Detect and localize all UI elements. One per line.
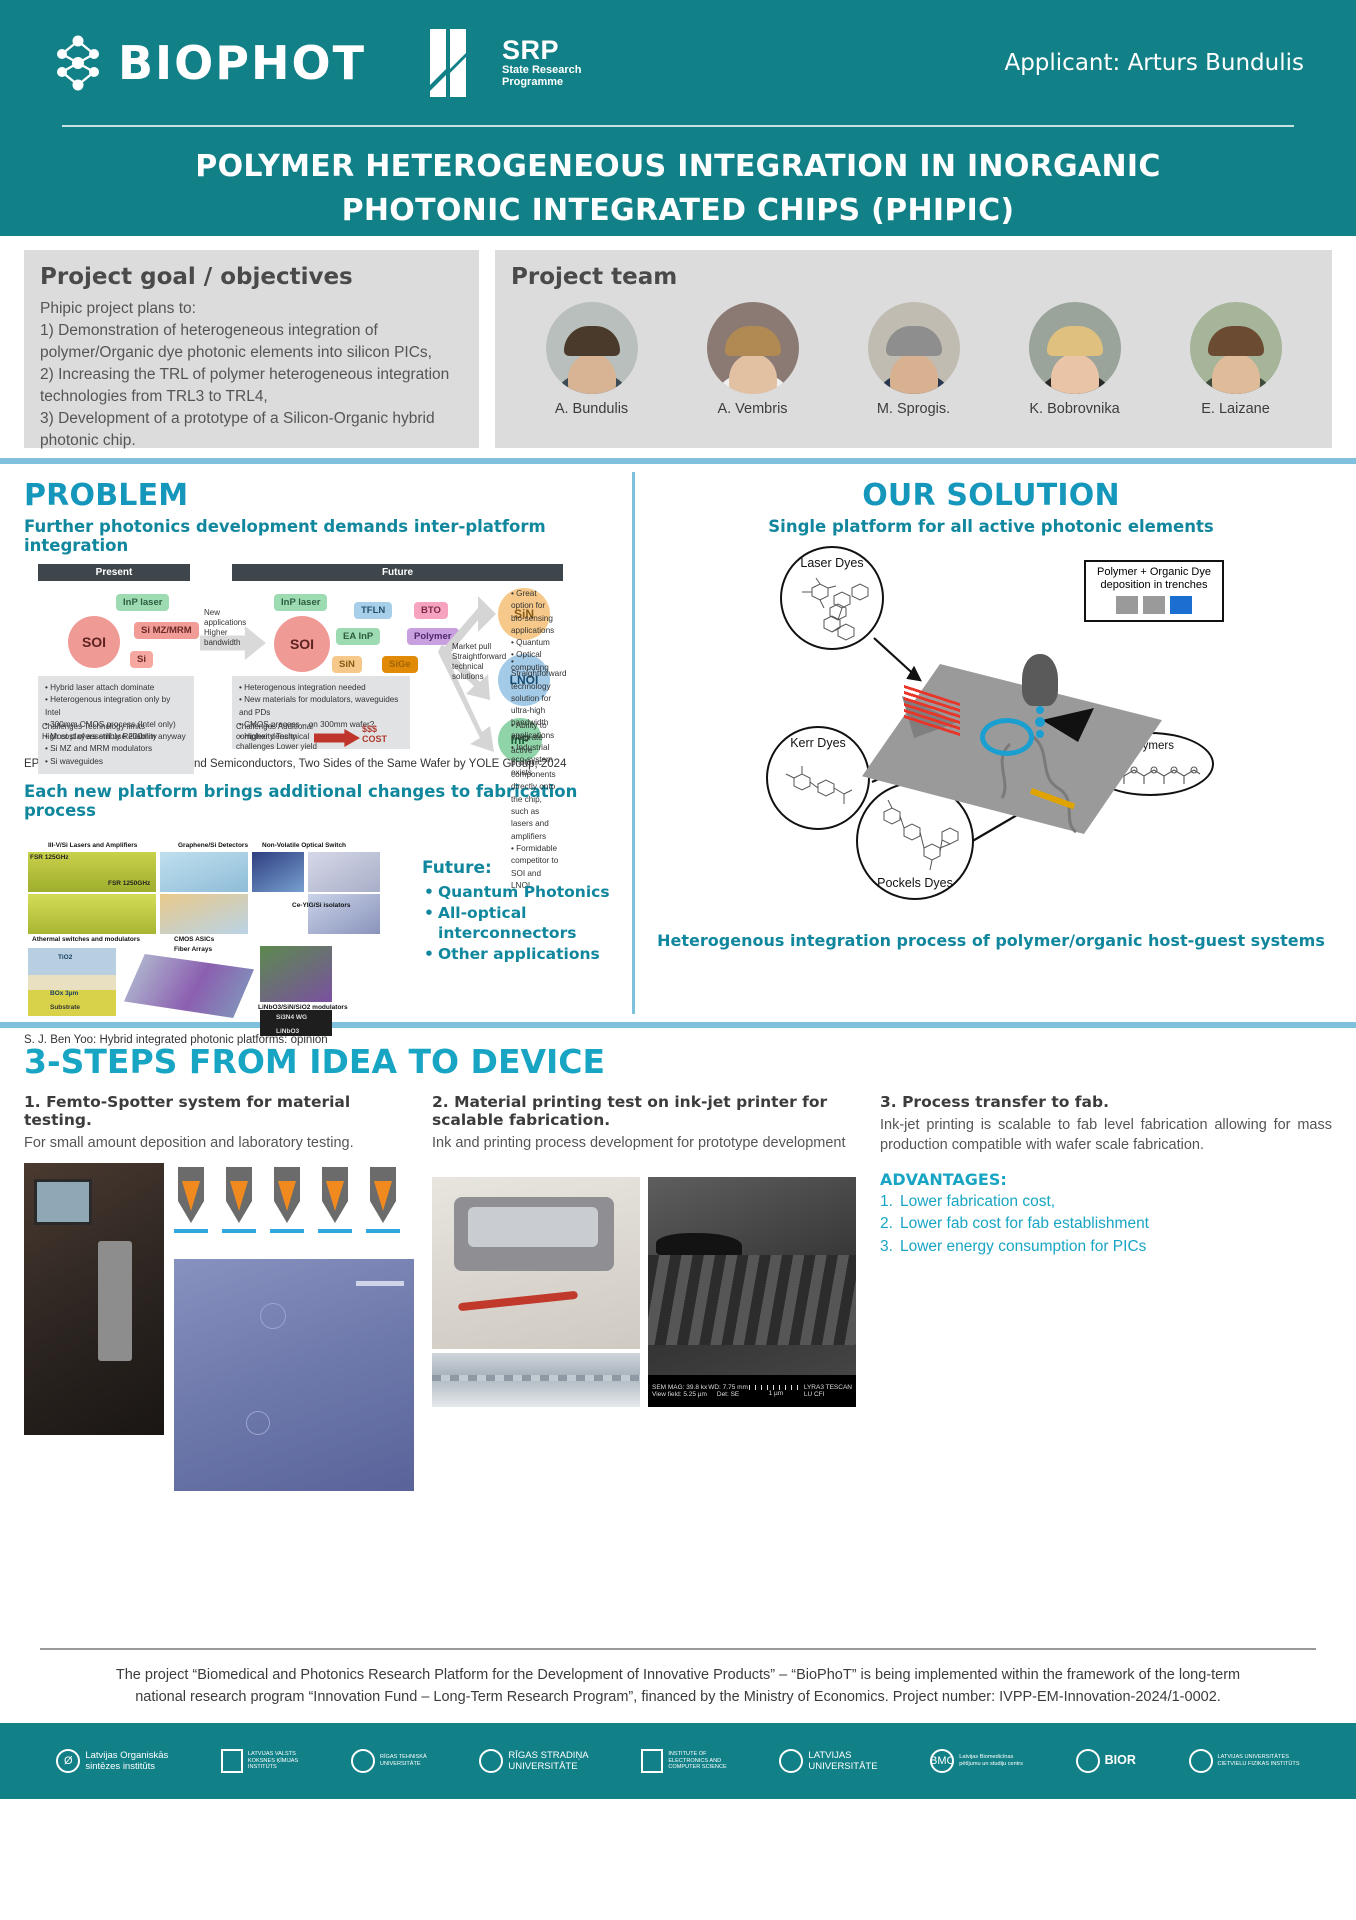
partner-logo-name: RĪGAS TEHNISKĀ UNIVERSITĀTE xyxy=(380,1754,427,1767)
srp-logo: SRP State Research Programme xyxy=(420,23,582,103)
benyoo-label-5: Ce-YIG/Si isolators xyxy=(292,902,351,909)
avatar xyxy=(1029,302,1121,394)
benyoo-label-12: Substrate xyxy=(50,1004,80,1011)
benyoo-label-10: TiO2 xyxy=(58,954,72,961)
deposition-callout-text: Polymer + Organic Dye deposition in tren… xyxy=(1091,566,1217,592)
epic-present-label: Present xyxy=(38,564,190,581)
future-list-item: All-optical interconnectors xyxy=(422,903,632,944)
advantages-list: Lower fabrication cost,Lower fab cost fo… xyxy=(880,1191,1332,1258)
team-grid: A. BundulisA. VembrisM. Sprogis.K. Bobro… xyxy=(511,298,1316,417)
footer-divider xyxy=(40,1648,1316,1650)
team-member: A. Vembris xyxy=(697,302,809,417)
team-member: A. Bundulis xyxy=(536,302,648,417)
solution-heading: OUR SOLUTION xyxy=(646,478,1336,513)
step-2-title: 2. Material printing test on ink-jet pri… xyxy=(432,1093,864,1129)
benyoo-label-7: Fiber Arrays xyxy=(174,946,212,953)
poster-header: BIOPHOT SRP State Research Programme xyxy=(0,0,1356,236)
partner-logo-mark-icon xyxy=(351,1749,375,1773)
benyoo-img-3d-stack xyxy=(124,954,254,1018)
epic-tag-sin: SiN xyxy=(332,656,362,673)
partner-logo: INSTITUTE OF ELECTRONICS AND COMPUTER SC… xyxy=(641,1749,726,1773)
future-list-item: Other applications xyxy=(422,944,632,965)
nozzle-1-icon xyxy=(174,1167,208,1233)
avatar xyxy=(1190,302,1282,394)
advantage-item: Lower fab cost for fab establishment xyxy=(880,1213,1332,1235)
epic-future-label: Future xyxy=(232,564,563,581)
avatar xyxy=(546,302,638,394)
step-1-column: 1. Femto-Spotter system for material tes… xyxy=(24,1093,416,1491)
epic-tag-ea-inp: EA InP xyxy=(336,628,380,645)
partner-logo: LATVIJAS UNIVERSITĀTES CIETVIELU FIZIKAS… xyxy=(1189,1749,1300,1773)
bullet-item: • Hybrid laser attach dominate xyxy=(45,682,187,694)
steps-heading: 3-STEPS FROM IDEA TO DEVICE xyxy=(24,1042,1332,1081)
advantage-item: Lower fabrication cost, xyxy=(880,1191,1332,1213)
ink-droplet-2-icon xyxy=(1035,717,1045,727)
nozzle-strip-illustration xyxy=(174,1163,414,1259)
benyoo-figure: III-V/Si Lasers and Amplifiers Graphene/… xyxy=(24,842,408,1020)
srp-fullname-line2: Programme xyxy=(502,77,582,89)
benyoo-label-14: LiNbO3 xyxy=(276,1028,299,1035)
problem-column: PROBLEM Further photonics development de… xyxy=(0,464,632,1022)
deposition-nozzle-icon xyxy=(1022,654,1058,706)
bullet-item: • Heterogenous integration needed xyxy=(239,682,403,694)
step-3-column: 3. Process transfer to fab. Ink-jet prin… xyxy=(880,1093,1332,1491)
sem-lab: LU CFI xyxy=(804,1391,852,1398)
partner-logo-mark-icon xyxy=(1189,1749,1213,1773)
problem-heading: PROBLEM xyxy=(24,478,616,513)
partner-logo: LATVIJAS VALSTS KOKSNES ĶĪMIJAS INSTITŪT… xyxy=(221,1749,298,1773)
project-team-title: Project team xyxy=(511,264,1316,290)
srp-abbreviation: SRP xyxy=(502,36,582,65)
laser-dye-molecule-icon xyxy=(794,574,874,644)
project-goal-panel: Project goal / objectives Phipic project… xyxy=(24,250,479,448)
benyoo-figure-wrap: III-V/Si Lasers and Amplifiers Graphene/… xyxy=(24,828,644,1028)
project-goal-text: Phipic project plans to: 1) Demonstratio… xyxy=(40,298,463,452)
step-3-text: Ink-jet printing is scalable to fab leve… xyxy=(880,1115,1332,1156)
epic-report-figure: Present Future SOI InP laser Si MZ/MRM S… xyxy=(24,564,569,754)
chip-ring-resonator-icon xyxy=(980,718,1034,756)
team-member: K. Bobrovnika xyxy=(1019,302,1131,417)
laser-dyes-label: Laser Dyes xyxy=(800,556,863,570)
sem-image: SEM MAG: 39.8 kx View field: 5.25 µm WD:… xyxy=(648,1177,856,1407)
header-divider xyxy=(62,125,1294,127)
femto-spotter-photo xyxy=(24,1163,164,1435)
epic-tag-tfln: TFLN xyxy=(354,602,392,619)
solution-caption: Heterogenous integration process of poly… xyxy=(646,930,1336,952)
team-member: M. Sprogis. xyxy=(858,302,970,417)
bullet-item: • Heterogenous integration only by Intel xyxy=(45,694,187,719)
deposition-callout-box: Polymer + Organic Dye deposition in tren… xyxy=(1084,560,1224,622)
benyoo-img-switch2 xyxy=(308,852,380,892)
header-top-row: BIOPHOT SRP State Research Programme xyxy=(38,0,1318,125)
partner-logo-name: LATVIJAS UNIVERSITĀTES CIETVIELU FIZIKAS… xyxy=(1218,1754,1300,1767)
future-list-item: Quantum Photonics xyxy=(422,882,632,903)
member-name: A. Bundulis xyxy=(536,401,648,417)
benyoo-img-lasers2 xyxy=(28,894,156,934)
ink-droplet-3-icon xyxy=(1036,730,1044,738)
partner-logo: BIOR xyxy=(1076,1749,1136,1773)
epic-tag-si: Si xyxy=(130,651,153,668)
future-list: Quantum PhotonicsAll-optical interconnec… xyxy=(422,882,632,964)
funding-statement: The project “Biomedical and Photonics Re… xyxy=(0,1664,1356,1723)
partner-logo-name: RĪGAS STRADIŅA UNIVERSITĀTE xyxy=(508,1750,588,1773)
team-member: E. Laizane xyxy=(1180,302,1292,417)
step-2-text: Ink and printing process development for… xyxy=(432,1133,864,1153)
benyoo-img-graphene xyxy=(160,852,248,892)
partner-logo: RĪGAS STRADIŅA UNIVERSITĀTE xyxy=(479,1749,588,1773)
applicant-label: Applicant: Arturs Bundulis xyxy=(1004,50,1318,76)
sem-overlay-bar: SEM MAG: 39.8 kx View field: 5.25 µm WD:… xyxy=(648,1375,856,1407)
sem-device: LYRA3 TESCAN xyxy=(804,1384,852,1391)
partner-logo-name: LATVIJAS VALSTS KOKSNES ĶĪMIJAS INSTITŪT… xyxy=(248,1751,298,1771)
epic-tag-inp-laser-present: InP laser xyxy=(116,594,169,611)
epic-future-soi: SOI xyxy=(274,616,330,672)
sem-scale-label: 1 µm xyxy=(749,1390,803,1397)
epic-tag-si-mz-mrm: Si MZ/MRM xyxy=(134,622,199,639)
middle-section: PROBLEM Further photonics development de… xyxy=(0,464,1356,1022)
sem-mag: SEM MAG: 39.8 kx xyxy=(652,1384,707,1391)
member-name: M. Sprogis. xyxy=(858,401,970,417)
partner-logo: LATVIJAS UNIVERSITĀTE xyxy=(779,1749,877,1773)
inkjet-printer-photo xyxy=(432,1177,640,1349)
microscope-image xyxy=(174,1259,414,1491)
bullet-item: • New materials for modulators, waveguid… xyxy=(239,694,403,719)
sem-det: Det: SE xyxy=(708,1391,748,1398)
epic-cost-label: $$$ COST xyxy=(362,724,387,745)
bullet-item: • Si MZ and MRM modulators xyxy=(45,743,187,755)
partner-logo-mark-icon: BMC xyxy=(930,1749,954,1773)
partner-logo-name: Latvijas Organiskās sintēzes institūts xyxy=(85,1750,168,1773)
benyoo-img-switch3 xyxy=(308,894,380,934)
partner-logo-name: LATVIJAS UNIVERSITĀTE xyxy=(808,1750,877,1773)
epic-present-challenges: Challenges Technology limits High cost o… xyxy=(42,722,162,742)
steps-section: 3-STEPS FROM IDEA TO DEVICE 1. Femto-Spo… xyxy=(0,1028,1356,1648)
partner-logo-mark-icon xyxy=(479,1749,503,1773)
partner-logo-name: INSTITUTE OF ELECTRONICS AND COMPUTER SC… xyxy=(668,1751,726,1771)
step-2-column: 2. Material printing test on ink-jet pri… xyxy=(432,1093,864,1491)
avatar xyxy=(707,302,799,394)
printed-line-photo xyxy=(432,1353,640,1407)
trench-row xyxy=(1091,596,1217,614)
kerr-dye-molecule-icon xyxy=(782,758,858,820)
partner-logo-mark-icon: Ø xyxy=(56,1749,80,1773)
biophot-logo: BIOPHOT xyxy=(52,34,366,92)
srp-text-block: SRP State Research Programme xyxy=(502,36,582,89)
benyoo-label-11: BOx 3µm xyxy=(50,990,78,997)
member-name: A. Vembris xyxy=(697,401,809,417)
nozzle-2-icon xyxy=(222,1167,256,1233)
partner-logo-mark-icon xyxy=(641,1749,663,1773)
epic-tag-sige: SiGe xyxy=(382,656,418,673)
solution-subheading: Single platform for all active photonic … xyxy=(646,517,1336,536)
nozzle-4-icon xyxy=(318,1167,352,1233)
step-1-text: For small amount deposition and laborato… xyxy=(24,1133,416,1153)
trench-empty-2 xyxy=(1143,596,1165,614)
sem-wd: WD: 7.75 mm xyxy=(708,1384,748,1391)
step-1-title: 1. Femto-Spotter system for material tes… xyxy=(24,1093,416,1129)
biophot-mark-icon xyxy=(52,34,104,92)
benyoo-label-3: Athermal switches and modulators xyxy=(32,936,140,943)
biophot-wordmark: BIOPHOT xyxy=(118,36,366,90)
advantages-title: ADVANTAGES: xyxy=(880,1170,1332,1189)
partner-logo: BMCLatvijas Biomedicīnas pētījumu un stu… xyxy=(930,1749,1023,1773)
epic-market-note: Market pull Straightforward technical so… xyxy=(452,642,498,682)
benyoo-label-8: FSR 125GHz xyxy=(30,854,69,861)
avatar xyxy=(868,302,960,394)
nozzle-5-icon xyxy=(366,1167,400,1233)
solution-figure: Laser Dyes Kerr Dyes xyxy=(756,546,1226,926)
benyoo-img-ceyig xyxy=(260,946,332,1002)
partner-logo-name: BIOR xyxy=(1105,1753,1136,1768)
step-3-title: 3. Process transfer to fab. xyxy=(880,1093,1332,1111)
member-name: E. Laizane xyxy=(1180,401,1292,417)
epic-present-soi: SOI xyxy=(68,616,120,668)
kerr-dyes-label: Kerr Dyes xyxy=(790,736,846,750)
advantage-item: Lower energy consumption for PICs xyxy=(880,1236,1332,1258)
project-team-panel: Project team A. BundulisA. VembrisM. Spr… xyxy=(495,250,1332,448)
laser-dyes-bubble: Laser Dyes xyxy=(780,546,884,650)
trench-empty-1 xyxy=(1116,596,1138,614)
trench-filled xyxy=(1170,596,1192,614)
partner-logo-mark-icon xyxy=(779,1749,803,1773)
sem-view-field: View field: 5.25 µm xyxy=(652,1391,707,1398)
epic-tag-inp-laser-future: InP laser xyxy=(274,594,327,611)
partner-logo: ØLatvijas Organiskās sintēzes institūts xyxy=(56,1749,168,1773)
epic-arrow-note: New applications Higher bandwidth xyxy=(204,608,264,648)
benyoo-label-2: Non-Volatile Optical Switch xyxy=(262,842,346,849)
benyoo-label-0: III-V/Si Lasers and Amplifiers xyxy=(48,842,137,849)
page-title: POLYMER HETEROGENEOUS INTEGRATION IN INO… xyxy=(38,127,1318,232)
srp-mark-icon xyxy=(420,23,492,103)
partner-logo-mark-icon xyxy=(221,1749,243,1773)
benyoo-label-4: CMOS ASICs xyxy=(174,936,214,943)
benyoo-label-1: Graphene/Si Detectors xyxy=(178,842,248,849)
partner-logos-bar: ØLatvijas Organiskās sintēzes institūtsL… xyxy=(0,1723,1356,1799)
kerr-dyes-bubble: Kerr Dyes xyxy=(766,726,870,830)
problem-subheading: Further photonics development demands in… xyxy=(24,517,616,555)
future-title: Future: xyxy=(422,858,632,878)
benyoo-img-switch1 xyxy=(252,852,304,892)
benyoo-label-9: FSR 1250GHz xyxy=(108,880,150,887)
member-name: K. Bobrovnika xyxy=(1019,401,1131,417)
project-goal-title: Project goal / objectives xyxy=(40,264,463,290)
benyoo-label-13: Si3N4 WG xyxy=(276,1014,307,1021)
future-applications-box: Future: Quantum PhotonicsAll-optical int… xyxy=(422,858,632,964)
partner-logo-mark-icon xyxy=(1076,1749,1100,1773)
nozzle-3-icon xyxy=(270,1167,304,1233)
partner-logo-name: Latvijas Biomedicīnas pētījumu un studij… xyxy=(959,1754,1023,1767)
info-row: Project goal / objectives Phipic project… xyxy=(0,236,1356,458)
bullet-item: • Si waveguides xyxy=(45,756,187,768)
ink-droplet-1-icon xyxy=(1036,706,1044,714)
partner-logo: RĪGAS TEHNISKĀ UNIVERSITĀTE xyxy=(351,1749,427,1773)
benyoo-img-graphene2 xyxy=(160,894,248,934)
solution-column: OUR SOLUTION Single platform for all act… xyxy=(632,464,1356,1022)
steps-row: 1. Femto-Spotter system for material tes… xyxy=(24,1093,1332,1491)
